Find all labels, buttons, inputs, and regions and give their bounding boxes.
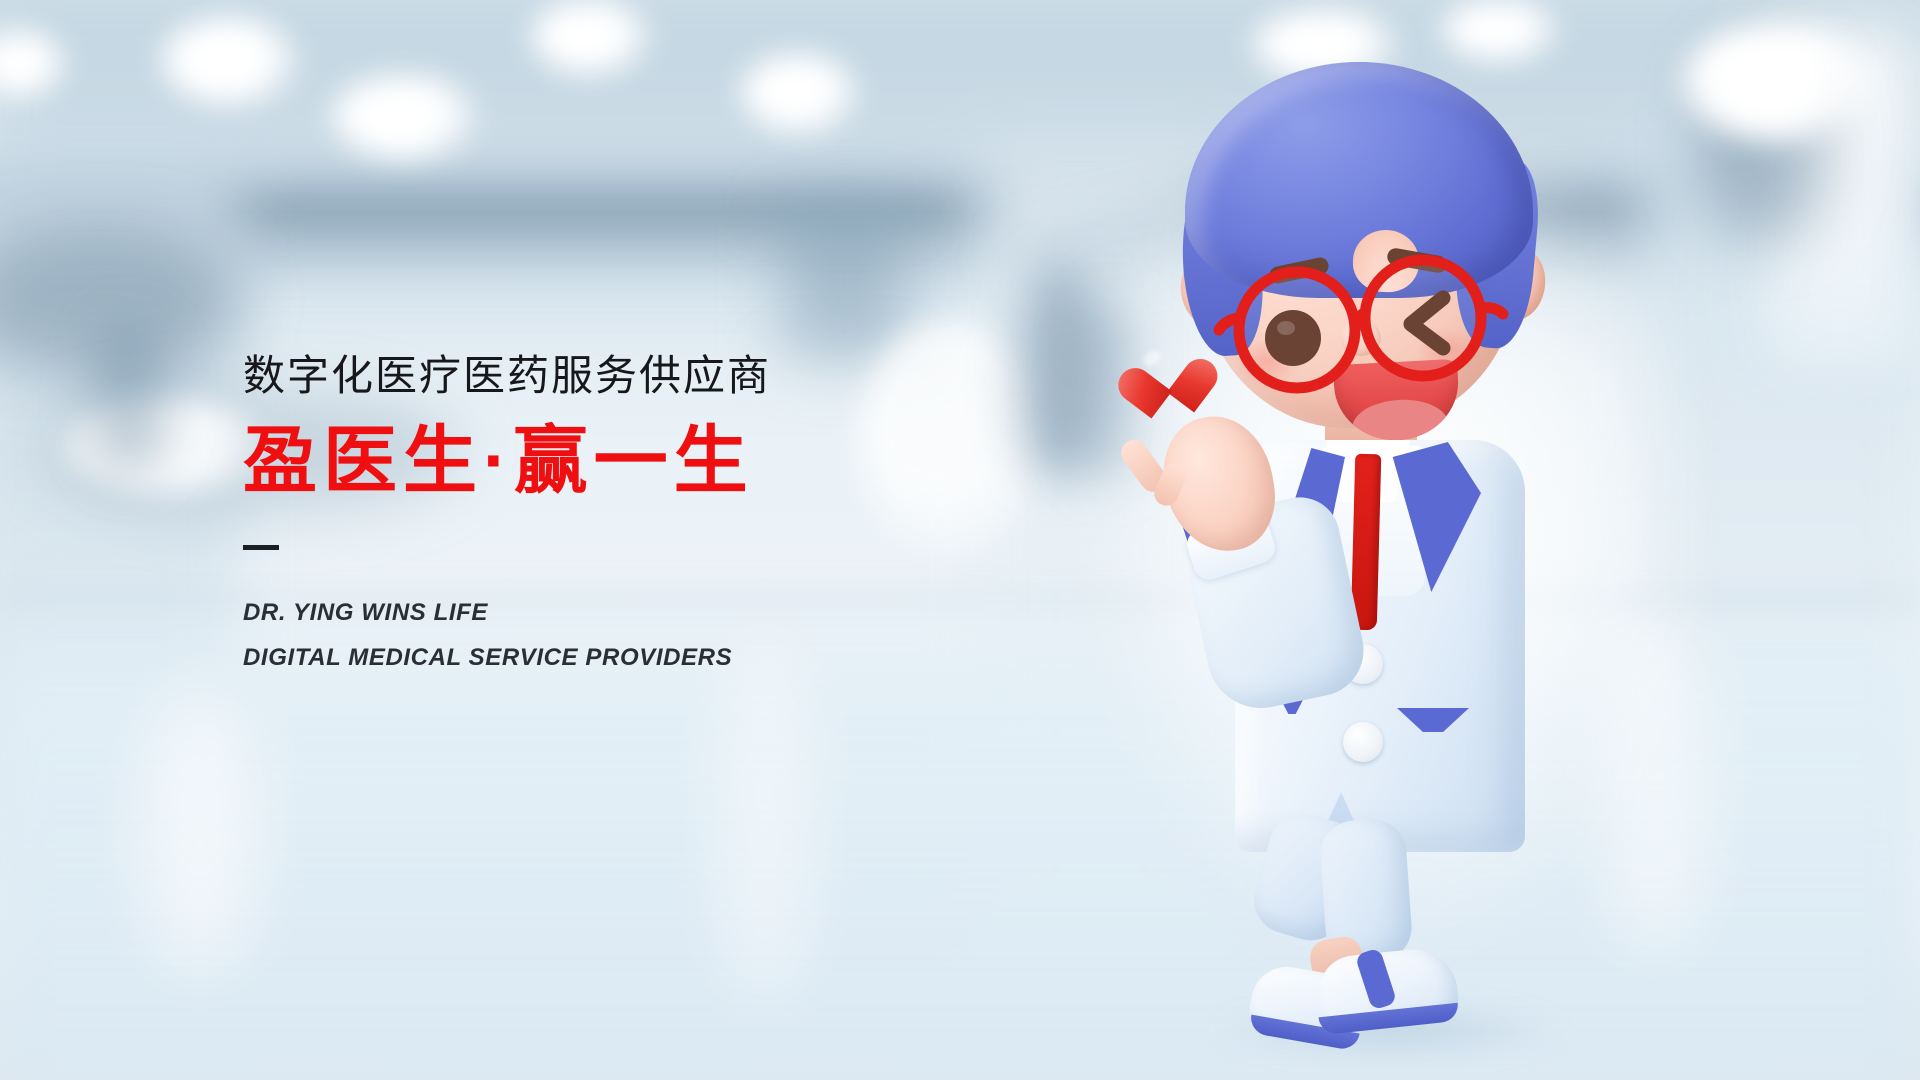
divider-rule [243, 545, 279, 550]
eyebrow-text: 数字化医疗医药服务供应商 [243, 352, 1003, 399]
ceiling-light-4 [530, 0, 650, 74]
ceiling-light-2 [160, 18, 298, 104]
heart-highlight [1141, 348, 1163, 369]
hero-copy-block: 数字化医疗医药服务供应商 盈医生·赢一生 DR. YING WINS LIFE … [243, 352, 1003, 678]
doctor-mascot [1175, 40, 1595, 1050]
mascot-head [1185, 62, 1533, 434]
mascot-legs [1215, 820, 1545, 1050]
eye-left-pupil [1265, 310, 1321, 366]
floor-reflection-1 [140, 690, 260, 970]
coat-button-bottom [1343, 722, 1383, 762]
hero-banner: 数字化医疗医药服务供应商 盈医生·赢一生 DR. YING WINS LIFE … [0, 0, 1920, 1080]
ceiling-light-3 [330, 76, 478, 158]
ceiling-light-8 [1680, 22, 1870, 142]
subtitle-line-2: DIGITAL MEDICAL SERVICE PROVIDERS [243, 639, 1003, 678]
red-necktie [1351, 454, 1382, 631]
page-title: 盈医生·赢一生 [243, 421, 1003, 501]
background-person-left [92, 322, 166, 472]
red-round-glasses-icon [1185, 62, 1533, 434]
floor-reflection-2 [720, 640, 810, 1000]
background-monitor [784, 208, 906, 358]
ceiling-light-5 [740, 54, 858, 132]
subtitle-line-1: DR. YING WINS LIFE [243, 594, 1003, 633]
mascot-body [1201, 396, 1561, 866]
